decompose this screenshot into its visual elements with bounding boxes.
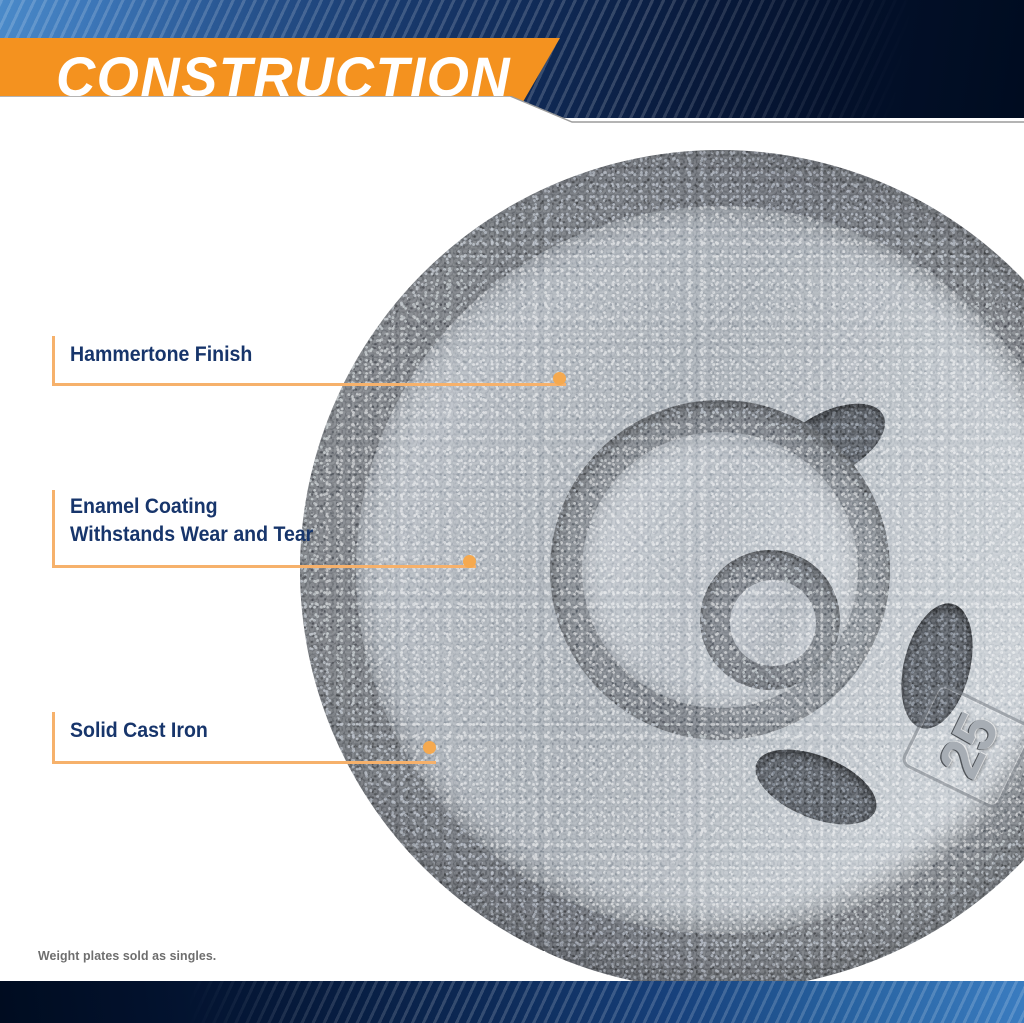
callout-label-line1: Enamel Coating — [70, 494, 218, 520]
callout-solid-cast-iron: Solid Cast Iron — [52, 712, 442, 766]
disclaimer-text: Weight plates sold as singles. — [38, 948, 216, 963]
callout-enamel-coating: Enamel Coating Withstands Wear and Tear — [52, 490, 482, 570]
callout-endpoint-dot — [423, 741, 436, 754]
product-image-weight-plate: 25 — [300, 150, 1024, 990]
callout-label-line1: Hammertone Finish — [70, 342, 252, 368]
callout-endpoint-dot — [553, 372, 566, 385]
callout-leader-line — [64, 383, 566, 386]
callout-endpoint-dot — [463, 555, 476, 568]
infographic-canvas: CONSTRUCTION 25 Hammertone Finish — [0, 0, 1024, 1023]
callout-bracket — [52, 712, 66, 764]
hammertone-texture-overlay-fine — [300, 150, 1024, 990]
callout-hammertone-finish: Hammertone Finish — [52, 336, 572, 388]
callout-bracket — [52, 336, 66, 386]
callout-leader-line — [64, 761, 436, 764]
footer-diagonal-stripes — [0, 981, 1024, 1023]
footer-banner — [0, 981, 1024, 1023]
callout-label-line2: Withstands Wear and Tear — [70, 522, 313, 548]
callout-label-line1: Solid Cast Iron — [70, 718, 208, 744]
callout-bracket — [52, 490, 66, 568]
weight-plate: 25 — [300, 150, 1024, 990]
callout-leader-line — [64, 565, 476, 568]
